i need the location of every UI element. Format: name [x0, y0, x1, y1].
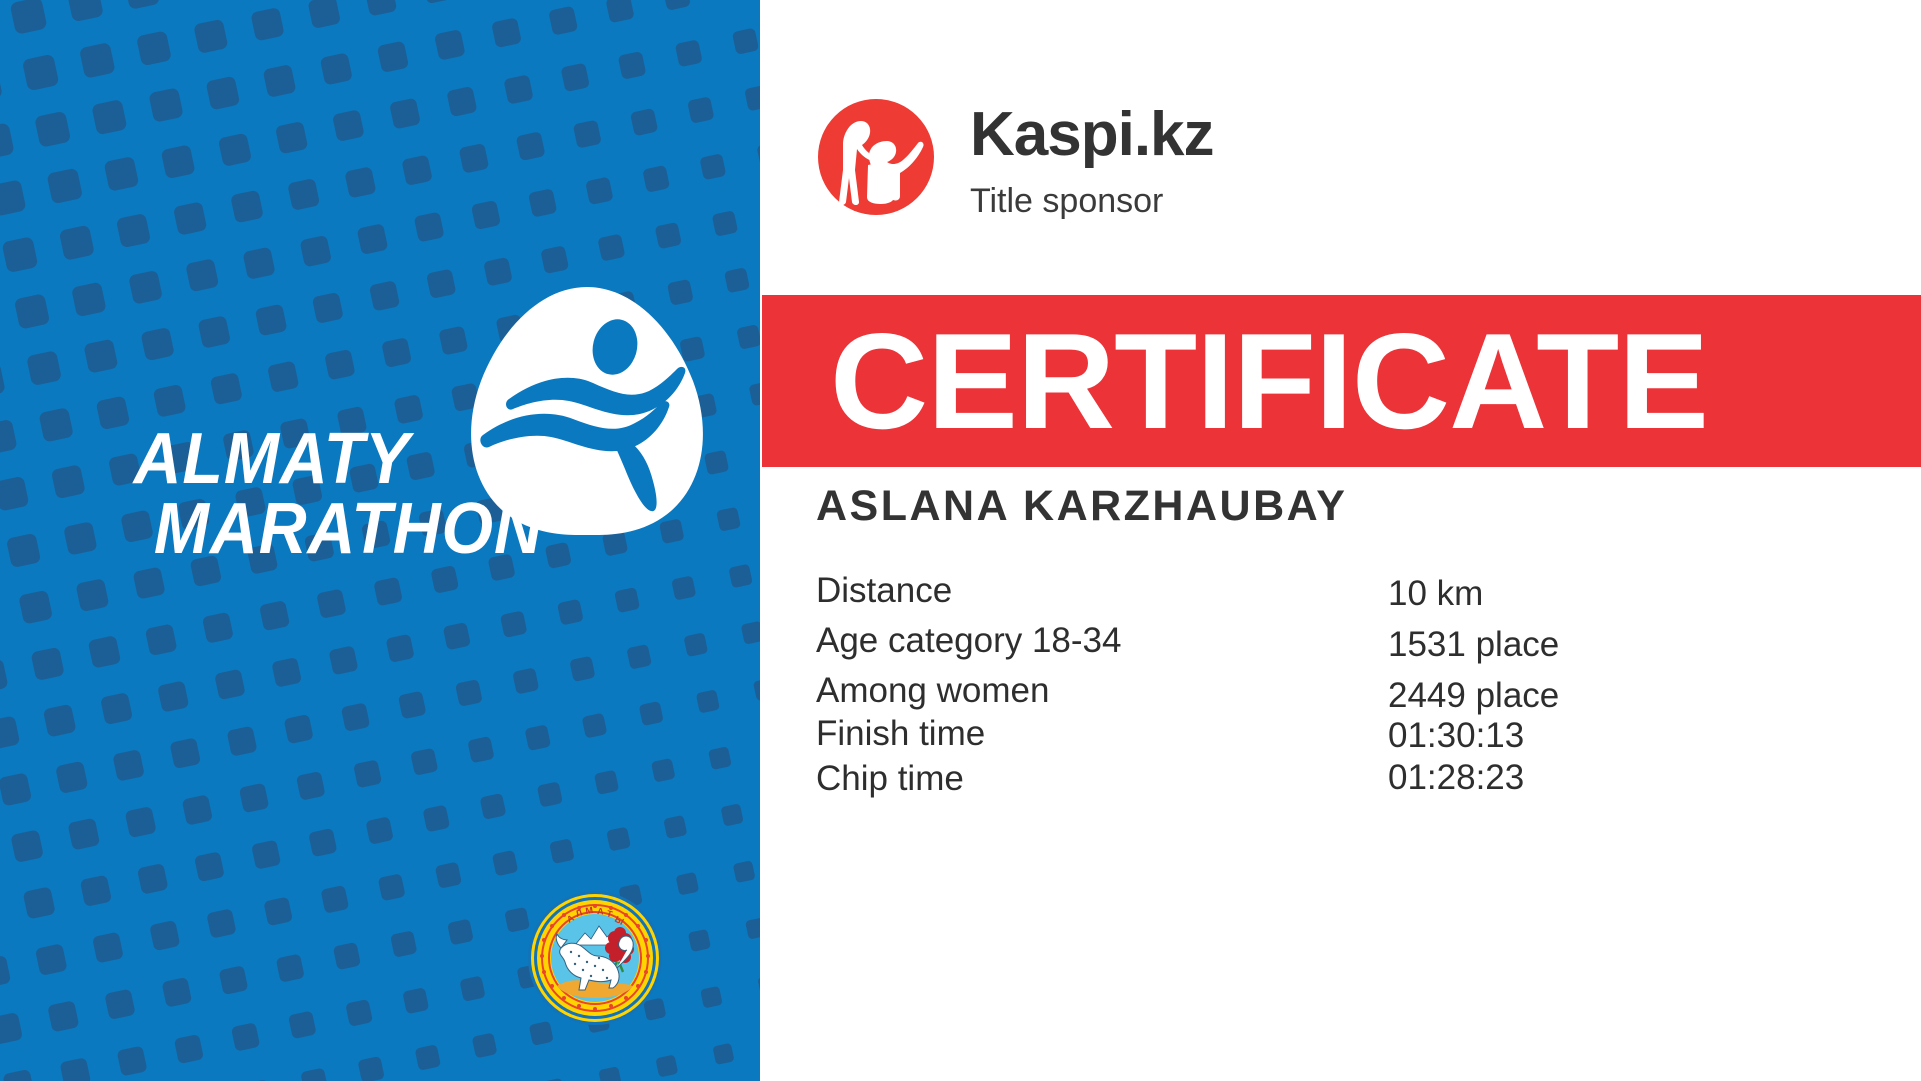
certificate-banner: CERTIFICATE — [762, 295, 1921, 467]
title-sponsor-block: Kaspi.kz Title sponsor — [815, 96, 1214, 218]
result-row: Finish time 01:30:13 — [816, 713, 1816, 755]
result-label: Chip time — [816, 758, 964, 800]
result-label: Distance — [816, 570, 952, 612]
result-value: 2449 place — [1388, 675, 1559, 717]
almaty-city-emblem: А Л М А Т Ы — [527, 890, 663, 1026]
svg-text:М: М — [585, 905, 594, 916]
brand-panel: ALMATY MARATHON — [0, 0, 760, 1081]
almaty-marathon-logo: ALMATY MARATHON — [130, 285, 720, 605]
result-value: 01:30:13 — [1388, 715, 1524, 757]
result-row: Chip time 01:28:23 — [816, 758, 1816, 800]
wordmark-line-marathon: MARATHON — [130, 495, 673, 565]
result-label: Finish time — [816, 713, 985, 755]
result-label: Age category 18-34 — [816, 620, 1121, 662]
result-value: 10 km — [1388, 573, 1483, 615]
sponsor-name: Kaspi.kz — [970, 104, 1214, 166]
almaty-marathon-wordmark: ALMATY MARATHON — [130, 425, 720, 565]
result-row: Age category 18-34 1531 place — [816, 620, 1816, 662]
result-label: Among women — [816, 670, 1049, 712]
kaspi-kz-logo — [815, 96, 937, 218]
result-row: Distance 10 km — [816, 570, 1816, 612]
results-table: Distance 10 km Age category 18-34 1531 p… — [816, 570, 1816, 808]
svg-text:А: А — [597, 906, 605, 916]
certificate-content: Kaspi.kz Title sponsor CERTIFICATE ASLAN… — [760, 0, 1921, 1081]
result-row: Among women 2449 place — [816, 670, 1816, 712]
wordmark-line-almaty: ALMATY — [130, 425, 673, 495]
certificate-page: ALMATY MARATHON — [0, 0, 1921, 1081]
athlete-name: ASLANA KARZHAUBAY — [816, 482, 1347, 531]
certificate-title: CERTIFICATE — [830, 313, 1708, 449]
result-value: 01:28:23 — [1388, 757, 1524, 799]
sponsor-role: Title sponsor — [970, 184, 1214, 218]
result-value: 1531 place — [1388, 624, 1559, 666]
